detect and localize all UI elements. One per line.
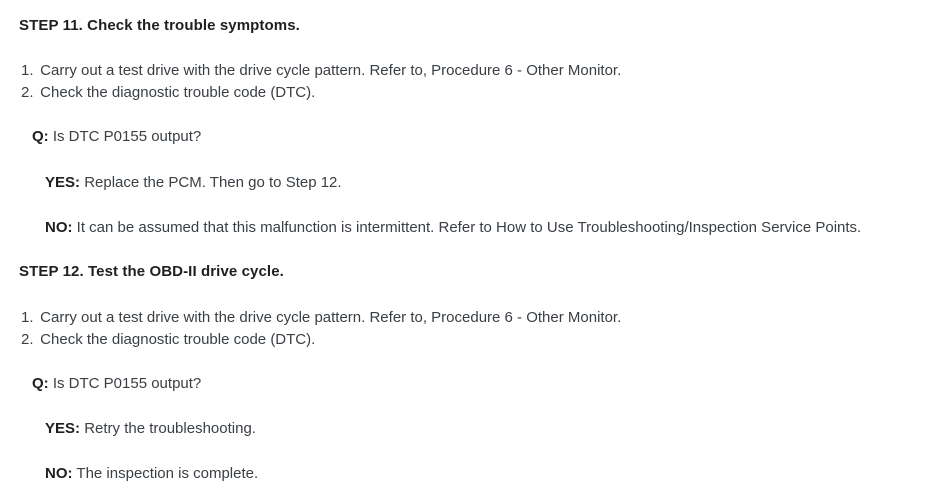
procedure-number: 2. — [21, 329, 36, 351]
procedure-item: 2. Check the diagnostic trouble code (DT… — [21, 329, 621, 351]
answer-yes-text: Replace the PCM. Then go to Step 12. — [84, 174, 341, 191]
procedure-item: 2. Check the diagnostic trouble code (DT… — [21, 82, 621, 104]
step-heading-12: STEP 12. Test the OBD-II drive cycle. — [19, 262, 284, 282]
procedure-text: Carry out a test drive with the drive cy… — [40, 62, 621, 79]
answer-yes-12: YES: Retry the troubleshooting. — [45, 418, 256, 440]
question-11: Q: Is DTC P0155 output? — [32, 126, 201, 148]
procedure-text: Carry out a test drive with the drive cy… — [40, 309, 621, 326]
procedure-item: 1. Carry out a test drive with the drive… — [21, 307, 621, 329]
procedure-text: Check the diagnostic trouble code (DTC). — [40, 331, 315, 348]
procedure-text: Check the diagnostic trouble code (DTC). — [40, 84, 315, 101]
question-text: Is DTC P0155 output? — [53, 375, 201, 392]
procedure-item: 1. Carry out a test drive with the drive… — [21, 60, 621, 82]
procedure-number: 1. — [21, 60, 36, 82]
answer-yes-label: YES: — [45, 174, 80, 191]
answer-no-label: NO: — [45, 219, 73, 236]
document-page: STEP 11. Check the trouble symptoms. 1. … — [0, 0, 948, 503]
answer-no-text: The inspection is complete. — [76, 465, 258, 482]
answer-no-text: It can be assumed that this malfunction … — [77, 219, 862, 236]
procedure-number: 2. — [21, 82, 36, 104]
step-heading-11: STEP 11. Check the trouble symptoms. — [19, 16, 300, 36]
answer-yes-label: YES: — [45, 420, 80, 437]
answer-no-11: NO: It can be assumed that this malfunct… — [45, 217, 861, 239]
answer-yes-11: YES: Replace the PCM. Then go to Step 12… — [45, 172, 342, 194]
question-label: Q: — [32, 375, 49, 392]
answer-yes-text: Retry the troubleshooting. — [84, 420, 256, 437]
procedure-number: 1. — [21, 307, 36, 329]
question-label: Q: — [32, 128, 49, 145]
answer-no-label: NO: — [45, 465, 73, 482]
question-text: Is DTC P0155 output? — [53, 128, 201, 145]
procedure-list-11: 1. Carry out a test drive with the drive… — [21, 60, 621, 104]
procedure-list-12: 1. Carry out a test drive with the drive… — [21, 307, 621, 351]
question-12: Q: Is DTC P0155 output? — [32, 373, 201, 395]
answer-no-12: NO: The inspection is complete. — [45, 463, 258, 485]
